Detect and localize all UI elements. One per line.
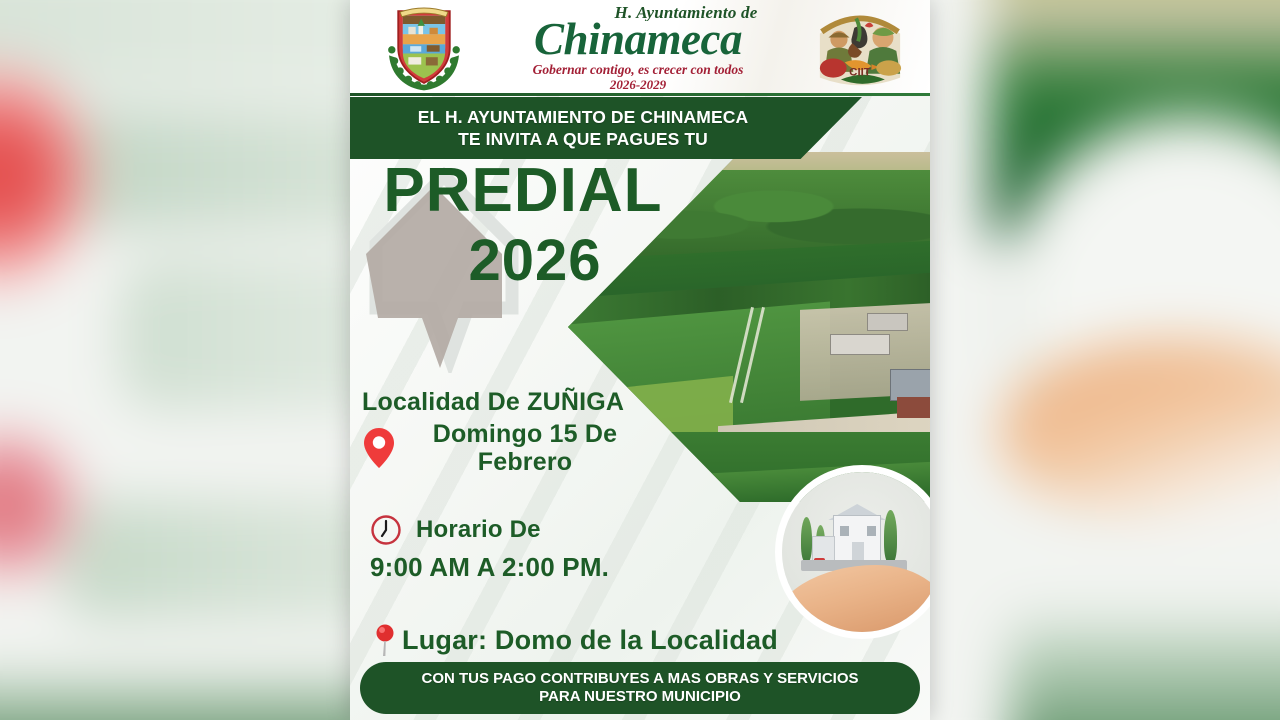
poster-screenshot: H. Ayuntamiento de Chinameca Gobernar co… xyxy=(0,0,1280,720)
invitation-line-1: EL H. AYUNTAMIENTO DE CHINAMECA xyxy=(418,106,794,128)
header-title: Chinameca xyxy=(464,17,812,61)
invitation-banner: EL H. AYUNTAMIENTO DE CHINAMECA TE INVIT… xyxy=(350,97,862,159)
footer-line-2: PARA NUESTRO MUNICIPIO xyxy=(539,688,741,706)
place-row: Lugar: Domo de la Localidad xyxy=(350,623,930,657)
schedule-value: 9:00 AM A 2:00 PM. xyxy=(350,552,930,583)
place-text: Lugar: Domo de la Localidad xyxy=(402,625,778,656)
municipal-coat-of-arms-icon xyxy=(378,2,470,94)
poster-header: H. Ayuntamiento de Chinameca Gobernar co… xyxy=(350,0,930,96)
svg-text:CIIT: CIIT xyxy=(849,67,871,79)
map-pin-icon xyxy=(362,426,396,470)
backdrop-blob xyxy=(0,670,400,720)
date-row: Domingo 15 De Febrero xyxy=(350,420,930,476)
footer-banner: CON TUS PAGO CONTRIBUYES A MAS OBRAS Y S… xyxy=(360,662,920,714)
footer-line-1: CON TUS PAGO CONTRIBUYES A MAS OBRAS Y S… xyxy=(421,670,858,688)
backdrop-blob xyxy=(1010,610,1280,720)
header-slogan: Gobernar contigo, es crecer con todos xyxy=(464,62,812,78)
clock-icon xyxy=(370,514,402,546)
invitation-line-2: TE INVITA A QUE PAGUES TU xyxy=(458,128,754,150)
schedule-label: Horario De xyxy=(416,516,541,544)
header-titles: H. Ayuntamiento de Chinameca Gobernar co… xyxy=(464,4,812,92)
header-period: 2026-2029 xyxy=(464,78,812,92)
title-year: 2026 xyxy=(350,222,680,300)
pushpin-icon xyxy=(372,623,398,657)
page-title: PREDIAL xyxy=(350,160,680,222)
title-block: PREDIAL 2026 xyxy=(350,160,680,300)
backdrop-blob xyxy=(0,60,90,290)
schedule-row: Horario De xyxy=(350,514,930,546)
ciit-logo-icon: CIIT xyxy=(812,5,908,91)
locality-text: Localidad De ZUÑIGA xyxy=(350,388,930,416)
poster-card: H. Ayuntamiento de Chinameca Gobernar co… xyxy=(350,0,930,720)
event-details: Localidad De ZUÑIGA Domingo 15 De Febrer… xyxy=(350,388,930,657)
date-text: Domingo 15 De Febrero xyxy=(400,420,650,476)
